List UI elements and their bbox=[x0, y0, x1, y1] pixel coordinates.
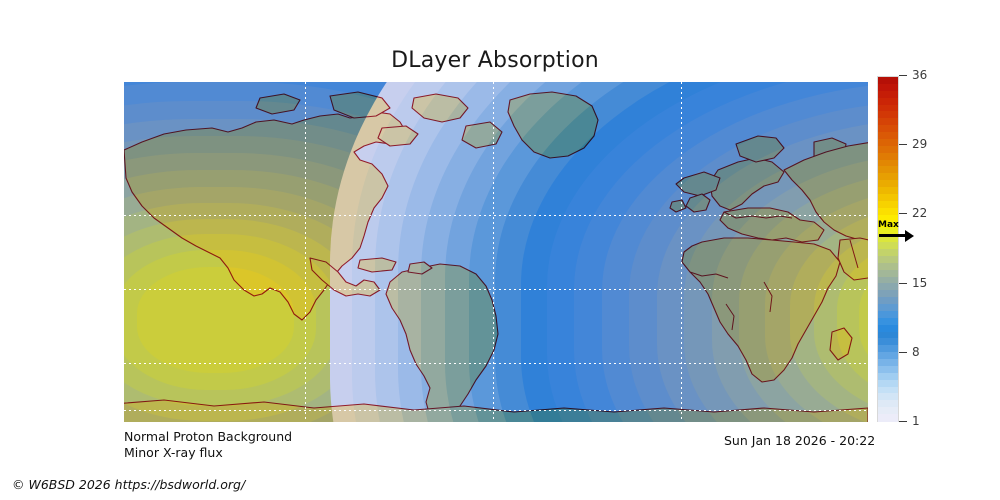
colorbar-segment bbox=[878, 414, 898, 421]
copyright-notice: © W6BSD 2026 https://bsdworld.org/ bbox=[12, 477, 245, 492]
world-map[interactable] bbox=[124, 82, 868, 422]
max-arrow-shaft bbox=[879, 234, 907, 237]
xray-status: Minor X-ray flux bbox=[124, 445, 292, 461]
proton-status: Normal Proton Background bbox=[124, 429, 292, 445]
colorbar-gradient bbox=[877, 76, 899, 422]
continents-layer bbox=[124, 82, 868, 422]
colorbar-axis-label: Affected Frequency (MHz) bbox=[906, 76, 1000, 422]
colorbar[interactable] bbox=[877, 76, 899, 422]
status-captions: Normal Proton Background Minor X-ray flu… bbox=[124, 429, 292, 461]
max-label: Max bbox=[878, 220, 899, 230]
page-title: DLayer Absorption bbox=[0, 48, 990, 73]
timestamp: Sun Jan 18 2026 - 20:22 bbox=[724, 433, 875, 448]
dlayer-absorption-figure: DLayer Absorption bbox=[0, 0, 1000, 500]
